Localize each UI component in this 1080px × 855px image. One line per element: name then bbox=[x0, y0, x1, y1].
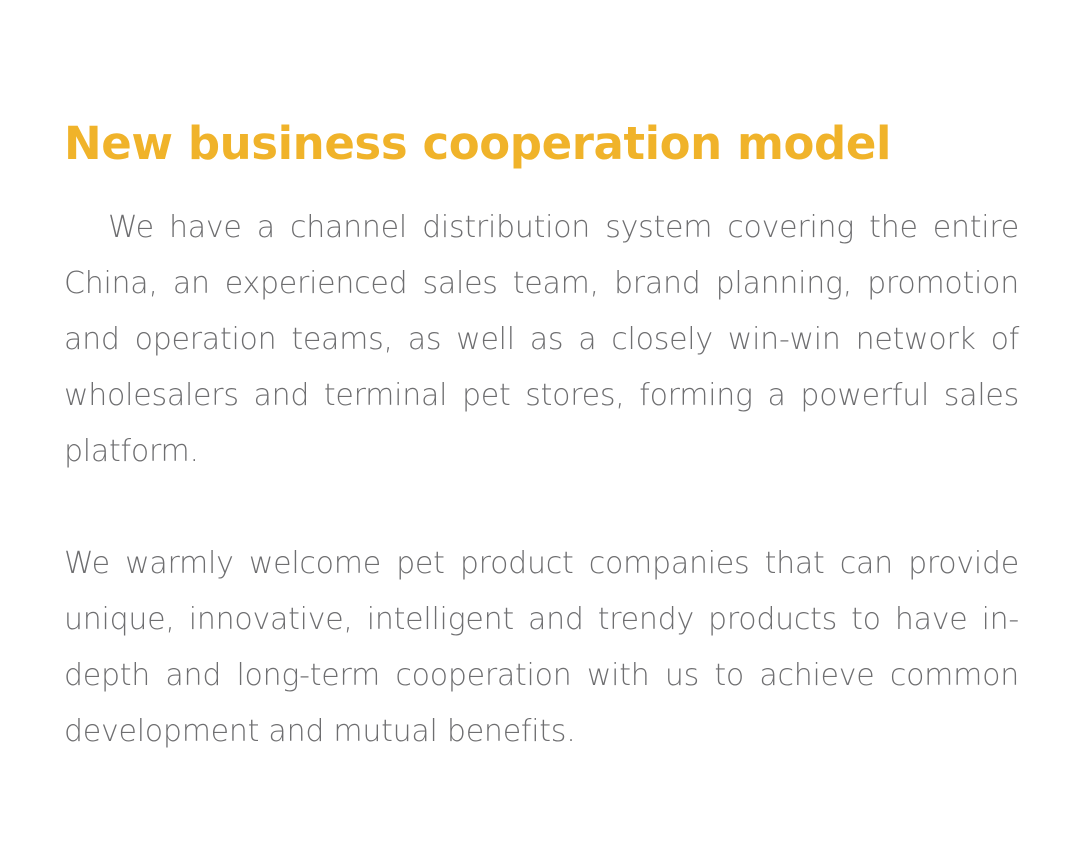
slide-body: We have a channel distribution system co… bbox=[64, 200, 1019, 760]
body-paragraph-2: We warmly welcome pet product companies … bbox=[64, 536, 1019, 760]
slide-canvas: New business cooperation model We have a… bbox=[0, 0, 1080, 855]
body-paragraph-1: We have a channel distribution system co… bbox=[64, 200, 1019, 480]
page-title: New business cooperation model bbox=[64, 118, 1014, 170]
